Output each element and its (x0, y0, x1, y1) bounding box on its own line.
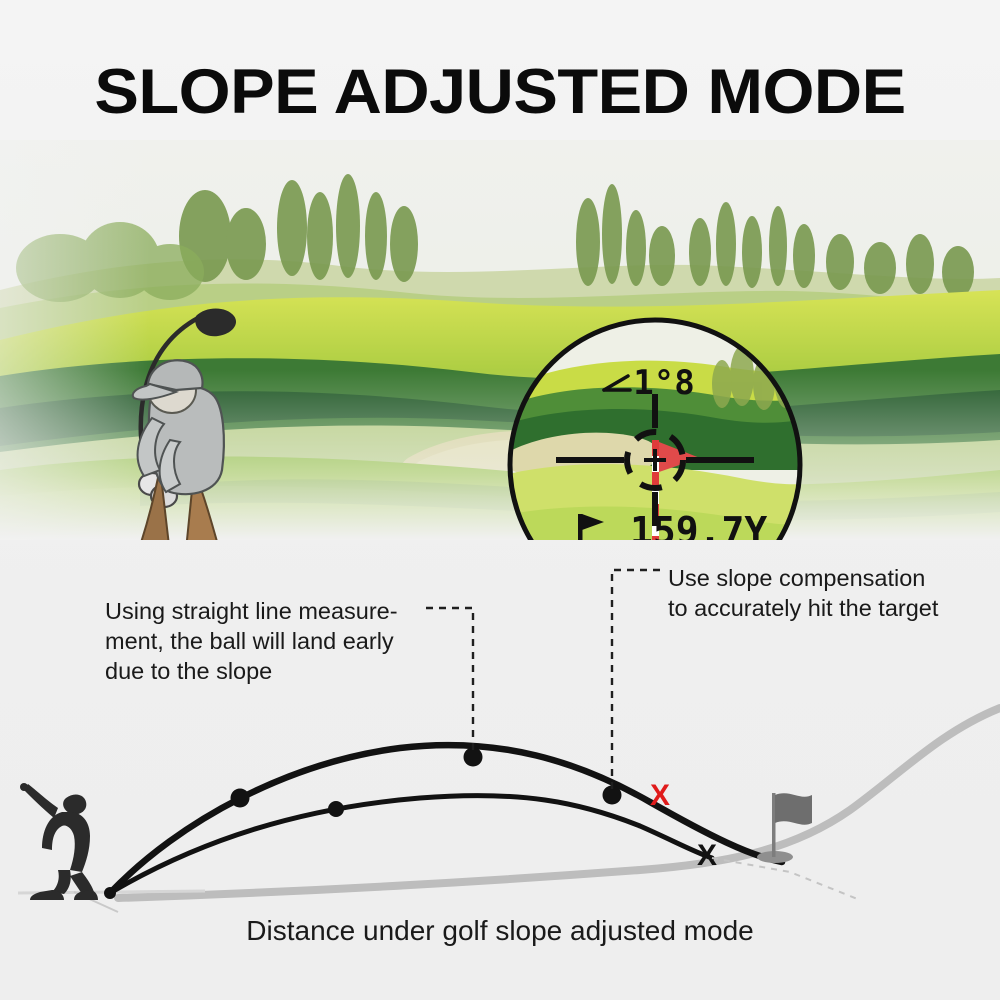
straight-line-trajectory (110, 796, 712, 893)
angle-value: 1°8 (633, 363, 694, 403)
right-callout-text: Use slope compensation to accurately hit… (668, 563, 988, 623)
golfer-silhouette-icon (20, 783, 98, 900)
right-callout-leader (612, 570, 660, 790)
bottom-caption: Distance under golf slope adjusted mode (0, 915, 1000, 947)
miss-marker-red: X (650, 779, 670, 812)
short-landing-marker: X (697, 839, 717, 872)
slope-adjusted-mode-infographic: SLOPE ADJUSTED MODE (0, 0, 1000, 1000)
adjusted-distance: 159.7Y (630, 509, 767, 540)
svg-text:X: X (650, 779, 670, 812)
hole-guide-line (712, 858, 860, 900)
tee-point (104, 887, 116, 899)
page-title: SLOPE ADJUSTED MODE (0, 56, 1000, 128)
ball-marker (231, 789, 250, 808)
left-callout-text: Using straight line measure- ment, the b… (105, 596, 435, 686)
slope-compensated-trajectory (110, 745, 782, 893)
svg-text:X: X (697, 839, 717, 872)
ball-marker (464, 748, 483, 767)
green-flag-icon (757, 793, 812, 863)
golf-course-scene: 1°8 159.7Y 167.2Y (0, 140, 1000, 540)
ball-marker (328, 801, 344, 817)
